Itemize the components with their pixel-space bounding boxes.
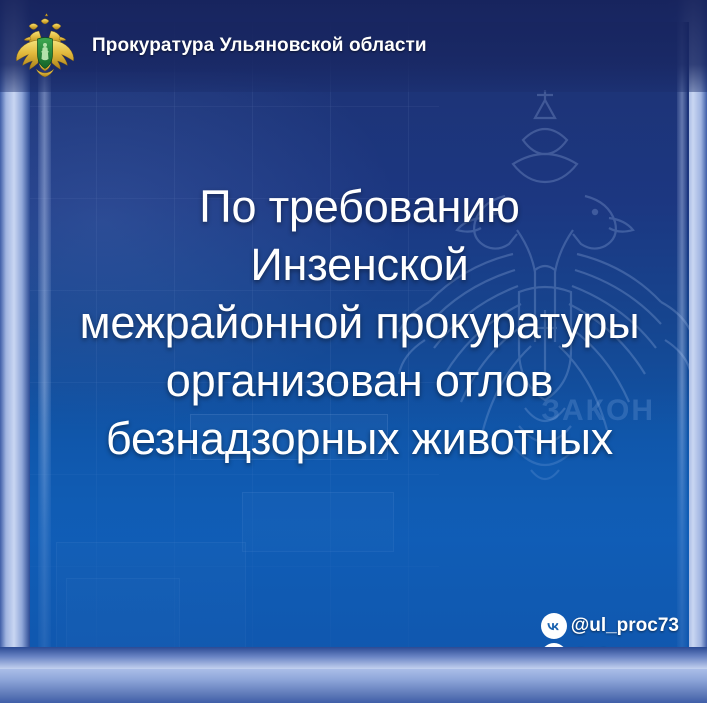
- headline-line: межрайонной прокуратуры: [30, 294, 689, 352]
- vk-handle[interactable]: @ul_proc73: [571, 615, 679, 637]
- headline-line: Инзенской: [30, 236, 689, 294]
- decor-block: [242, 492, 394, 552]
- bottom-inner-band: [0, 647, 707, 669]
- headline-line: организован отлов: [30, 352, 689, 410]
- header-bar: Прокуратура Ульяновской области: [0, 0, 707, 92]
- bottom-band: [0, 669, 707, 703]
- headline-text: По требованию Инзенской межрайонной прок…: [30, 178, 689, 468]
- social-row-vk[interactable]: @ul_proc73: [541, 613, 679, 639]
- headline-line: По требованию: [30, 178, 689, 236]
- organization-title: Прокуратура Ульяновской области: [92, 35, 427, 57]
- headline-line: безнадзорных животных: [30, 410, 689, 468]
- decor-block: [56, 542, 246, 647]
- poster-canvas: ЗАКОН: [0, 0, 707, 703]
- russian-prosecutor-eagle-emblem-icon: [14, 13, 76, 79]
- decor-block: [66, 578, 180, 647]
- vk-icon[interactable]: [541, 613, 567, 639]
